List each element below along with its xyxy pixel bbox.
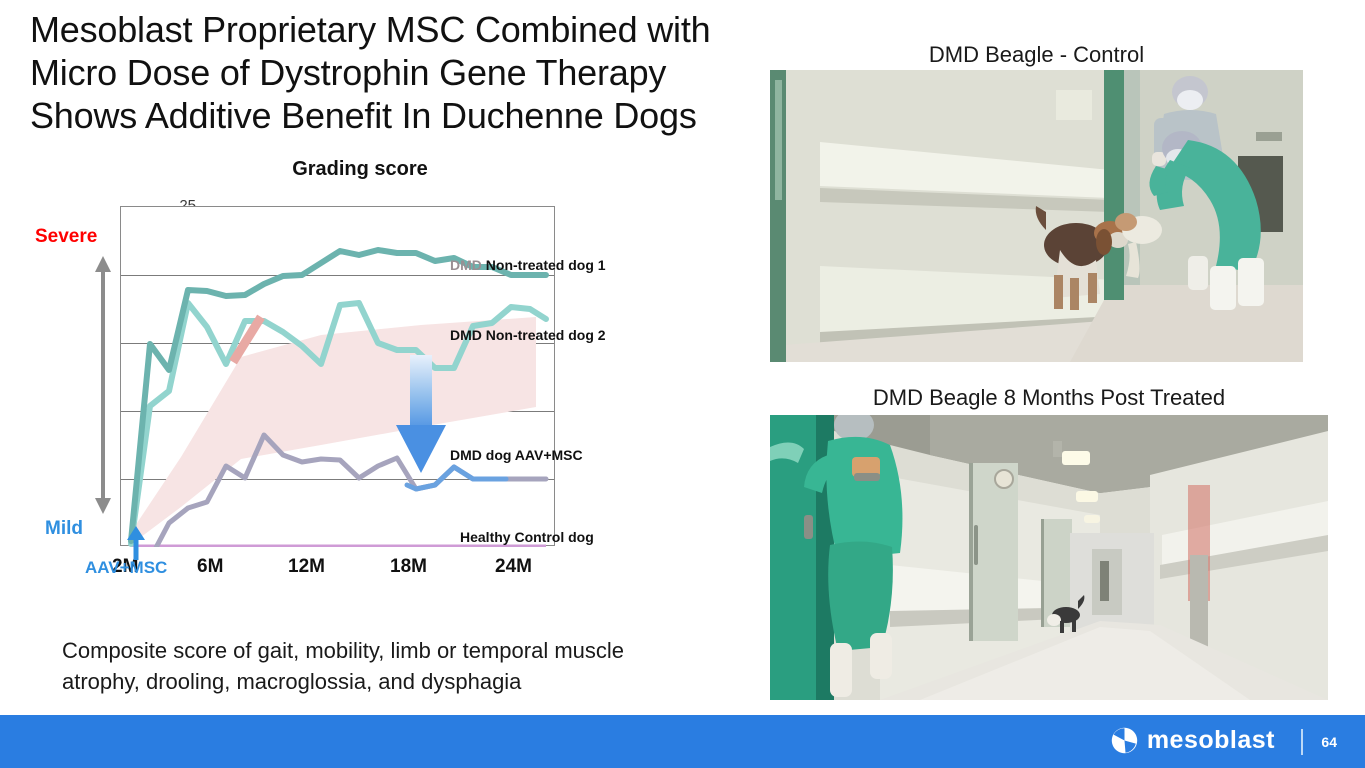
- panel-title-post-treated: DMD Beagle 8 Months Post Treated: [770, 385, 1328, 411]
- series-label-treated: DMD dog AAV+MSC: [450, 447, 583, 463]
- chart-caption: Composite score of gait, mobility, limb …: [62, 635, 702, 697]
- page-title: Mesoblast Proprietary MSC Combined with …: [30, 8, 775, 137]
- footer-bar: mesoblast 64: [0, 715, 1365, 768]
- x-tick-18m: 18M: [390, 556, 427, 578]
- x-tick-24m: 24M: [495, 556, 532, 578]
- footer-divider: [1301, 729, 1303, 755]
- severity-label-severe: Severe: [35, 226, 97, 248]
- series-label-dog1-rest: Non-treated dog 1: [482, 257, 606, 273]
- chart-title: Grading score: [240, 158, 480, 181]
- page-number: 64: [1321, 734, 1337, 750]
- severity-scale-arrow-icon: [92, 256, 114, 514]
- severity-label-mild: Mild: [45, 518, 83, 540]
- photo-dmd-beagle-control: [770, 70, 1303, 362]
- series-label-dog2: DMD Non-treated dog 2: [450, 327, 606, 343]
- slide: Mesoblast Proprietary MSC Combined with …: [0, 0, 1365, 768]
- series-label-healthy: Healthy Control dog: [460, 529, 594, 545]
- x-tick-6m: 6M: [197, 556, 223, 578]
- series-label-dog1-prefix: DMD: [450, 257, 482, 273]
- aav-msc-label: AAV+MSC: [85, 558, 167, 578]
- brand-logo: mesoblast: [1111, 727, 1275, 754]
- photo-dmd-beagle-post-treated: [770, 415, 1328, 700]
- grading-score-chart: Grading score 25 20 15 10 5 0 Severe Mil…: [30, 158, 730, 598]
- nontreated-range-band: [133, 317, 536, 543]
- panel-title-control: DMD Beagle - Control: [770, 42, 1303, 68]
- aav-msc-up-arrow-icon: [125, 526, 147, 560]
- series-label-dog1: DMD Non-treated dog 1: [450, 257, 606, 273]
- brand-name: mesoblast: [1147, 728, 1275, 753]
- x-tick-12m: 12M: [288, 556, 325, 578]
- mesoblast-mark-icon: [1111, 727, 1138, 754]
